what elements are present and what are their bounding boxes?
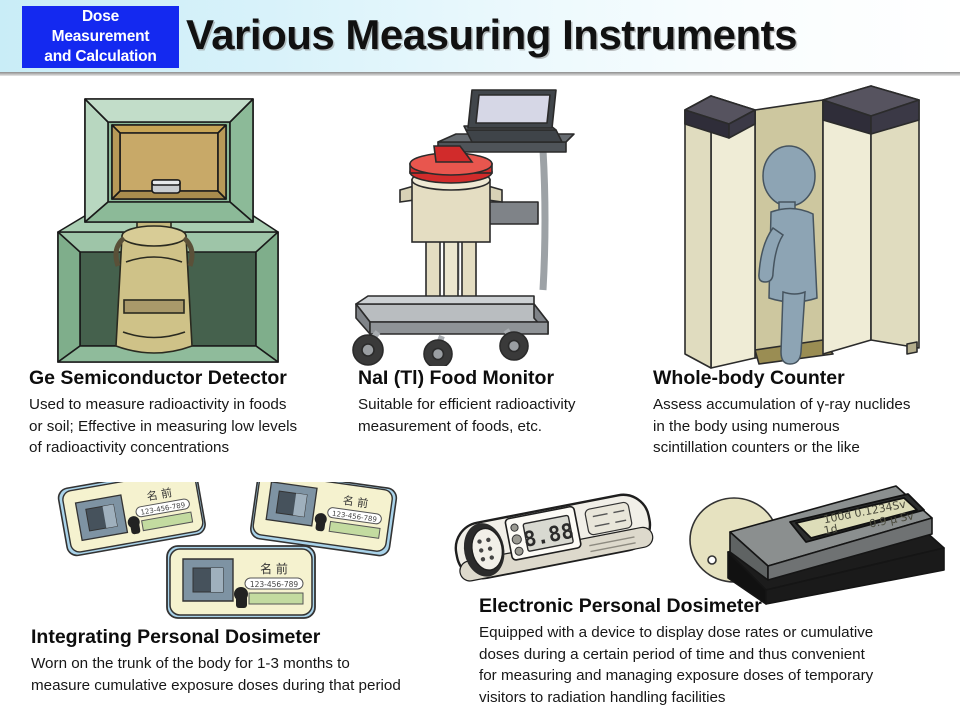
electronic-personal-dosimeter-illustration: 8.88	[448, 482, 663, 602]
reader-line-2-left: 1d	[823, 522, 839, 537]
caption-body-ge: Used to measure radioactivity in foods o…	[29, 394, 359, 459]
caption-body-wbc: Assess accumulation of γ-ray nuclides in…	[653, 394, 953, 459]
badge-name-label-3: 名 前	[260, 561, 288, 576]
integrating-personal-dosimeter-illustration: 名 前 123-456-789 名 前 123-456-789 名 前 123-…	[55, 482, 430, 622]
section-badge-label: Dose Measurement and Calculation	[44, 7, 156, 67]
caption-integrating-personal-dosimeter: Integrating Personal Dosimeter Worn on t…	[31, 626, 481, 696]
caption-body-ge-line-2: or soil; Effective in measuring low leve…	[29, 416, 359, 438]
electronic-personal-dosimeter-reader-illustration: 100d 0.1234Sv 1d 0.9 μ Sv	[672, 478, 957, 608]
caption-body-ge-line-3: of radioactivity concentrations	[29, 437, 359, 459]
header-divider	[0, 72, 960, 76]
page-title: Various Measuring Instruments	[186, 11, 797, 59]
caption-title-nai: NaI (Tl) Food Monitor	[358, 367, 658, 390]
caption-body-ipd-line-1: Worn on the trunk of the body for 1-3 mo…	[31, 653, 481, 675]
caption-body-wbc-line-1: Assess accumulation of γ-ray nuclides	[653, 394, 953, 416]
caption-whole-body-counter: Whole-body Counter Assess accumulation o…	[653, 367, 953, 459]
caption-body-epd-line-4: visitors to radiation handling facilitie…	[479, 687, 949, 709]
caption-body-nai-line-1: Suitable for efficient radioactivity	[358, 394, 658, 416]
caption-ge-semiconductor-detector: Ge Semiconductor Detector Used to measur…	[29, 367, 359, 459]
nai-food-monitor-illustration	[338, 84, 578, 366]
caption-body-nai: Suitable for efficient radioactivity mea…	[358, 394, 658, 437]
caption-title-ipd: Integrating Personal Dosimeter	[31, 626, 481, 649]
caption-body-nai-line-2: measurement of foods, etc.	[358, 416, 658, 438]
caption-body-ipd: Worn on the trunk of the body for 1-3 mo…	[31, 653, 481, 696]
caption-body-ipd-line-2: measure cumulative exposure doses during…	[31, 675, 481, 697]
badge-line-3: and Calculation	[44, 48, 156, 65]
caption-body-wbc-line-2: in the body using numerous	[653, 416, 953, 438]
caption-body-wbc-line-3: scintillation counters or the like	[653, 437, 953, 459]
caption-nai-food-monitor: NaI (Tl) Food Monitor Suitable for effic…	[358, 367, 658, 437]
caption-electronic-personal-dosimeter: Electronic Personal Dosimeter Equipped w…	[479, 595, 949, 708]
caption-title-epd: Electronic Personal Dosimeter	[479, 595, 949, 618]
caption-body-epd-line-3: for measuring and managing exposure dose…	[479, 665, 949, 687]
ge-semiconductor-detector-illustration	[40, 84, 300, 366]
caption-body-epd-line-1: Equipped with a device to display dose r…	[479, 622, 949, 644]
whole-body-counter-illustration	[655, 78, 945, 370]
caption-body-epd-line-2: doses during a certain period of time an…	[479, 644, 949, 666]
caption-title-wbc: Whole-body Counter	[653, 367, 953, 390]
badge-number-3: 123-456-789	[250, 580, 299, 589]
caption-body-ge-line-1: Used to measure radioactivity in foods	[29, 394, 359, 416]
badge-line-2: Measurement	[52, 28, 150, 45]
caption-body-epd: Equipped with a device to display dose r…	[479, 622, 949, 708]
caption-title-ge: Ge Semiconductor Detector	[29, 367, 359, 390]
badge-line-1: Dose	[82, 8, 119, 25]
section-badge: Dose Measurement and Calculation	[22, 6, 179, 68]
